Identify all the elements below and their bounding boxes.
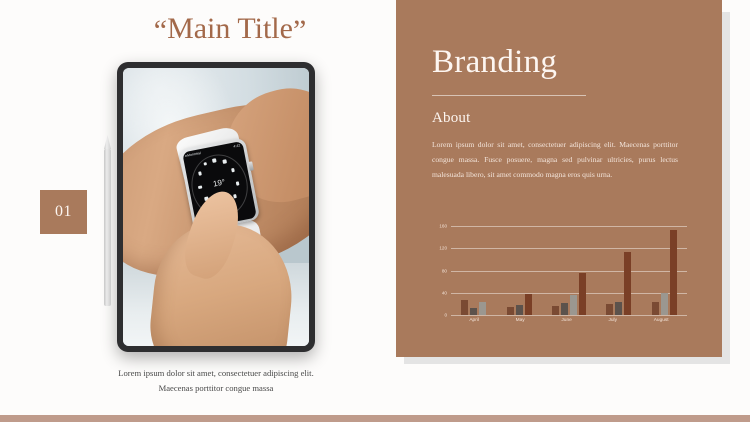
chart-bar xyxy=(624,252,631,315)
chart-bar xyxy=(479,302,486,315)
panel-heading: Branding xyxy=(432,46,688,79)
watch-city-label: Montréal xyxy=(185,151,201,158)
stylus-pen xyxy=(104,148,111,306)
chart-bar xyxy=(652,302,659,315)
chart-y-tick-label: 120 xyxy=(439,246,447,251)
chart-y-tick-label: 160 xyxy=(439,224,447,229)
chart-bar xyxy=(615,302,622,315)
panel-subheading: About xyxy=(432,110,688,127)
chart-y-tick-label: 0 xyxy=(444,313,447,318)
watch-time-label: 4:42 xyxy=(233,143,241,148)
chart-bar-group xyxy=(652,226,677,315)
bottom-accent-bar xyxy=(0,415,750,422)
chart-x-tick-label: May xyxy=(516,318,525,323)
chart-plot-area: 16012080400 xyxy=(451,226,687,315)
chart-y-tick-label: 80 xyxy=(442,268,447,273)
page-title: “Main Title” xyxy=(110,14,350,46)
chart-bar xyxy=(570,295,577,315)
chart-bar xyxy=(507,307,514,315)
device-mockup: Montréal 4:42 19° xyxy=(104,62,320,358)
caption-line-2: Maecenas porttitor congue massa xyxy=(96,381,336,396)
chart-bar xyxy=(552,306,559,315)
chart-bar-group xyxy=(552,226,586,315)
tablet-device: Montréal 4:42 19° xyxy=(117,62,315,352)
chart-bar xyxy=(606,304,613,315)
chart-bars xyxy=(451,226,687,315)
chart-bar xyxy=(670,230,677,315)
slide-number-label: 01 xyxy=(55,203,72,221)
device-caption: Lorem ipsum dolor sit amet, consectetuer… xyxy=(96,366,336,396)
chart-x-tick-label: July xyxy=(608,318,617,323)
tablet-screen: Montréal 4:42 19° xyxy=(123,68,309,346)
chart-bar xyxy=(525,294,532,315)
chart-bar-group xyxy=(461,226,486,315)
slide-number-badge: 01 xyxy=(40,190,87,234)
chart-bar xyxy=(661,293,668,315)
caption-line-1: Lorem ipsum dolor sit amet, consectetuer… xyxy=(96,366,336,381)
chart-bar-group xyxy=(507,226,532,315)
panel-body-text: Lorem ipsum dolor sit amet, consectetuer… xyxy=(432,138,678,182)
quote-close-glyph: ” xyxy=(293,14,306,47)
chart-gridline: 0 xyxy=(451,315,687,316)
branding-panel: Branding About Lorem ipsum dolor sit ame… xyxy=(396,0,722,357)
slide: 01 “Main Title” xyxy=(0,0,750,422)
chart-bar xyxy=(579,273,586,315)
chart-bar-group xyxy=(606,226,631,315)
chart-bar xyxy=(470,308,477,315)
chart-bar xyxy=(461,300,468,315)
chart-x-tick-label: April xyxy=(469,318,479,323)
chart-bar xyxy=(516,305,523,315)
panel-divider xyxy=(432,95,586,96)
bar-chart: 16012080400 AprilMayJuneJulyAugust xyxy=(432,222,687,330)
chart-x-tick-label: August xyxy=(654,318,669,323)
chart-x-tick-label: June xyxy=(561,318,571,323)
chart-y-tick-label: 40 xyxy=(442,290,447,295)
chart-bar xyxy=(561,303,568,315)
photo-smartwatch: Montréal 4:42 19° xyxy=(123,68,309,346)
page-title-text: Main Title xyxy=(167,12,293,45)
quote-open-glyph: “ xyxy=(154,14,167,47)
chart-x-axis-labels: AprilMayJuneJulyAugust xyxy=(451,318,687,330)
